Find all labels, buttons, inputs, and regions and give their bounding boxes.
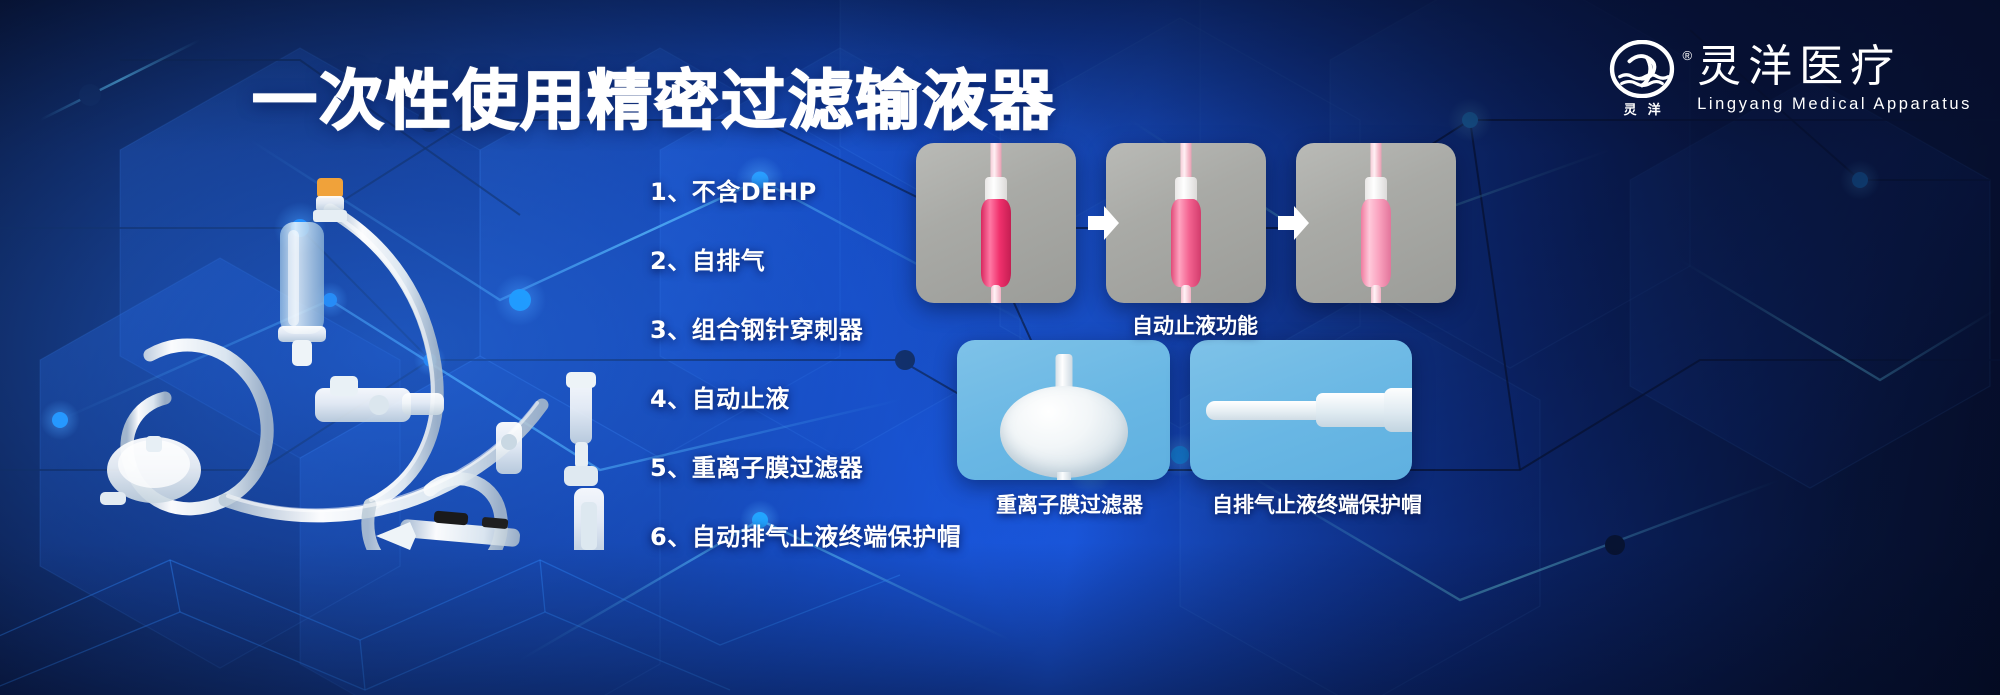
feature-item-1: 1、不含DEHP: [650, 172, 961, 207]
circle-fish-wave-emblem-icon: ® 灵洋: [1603, 40, 1681, 118]
caption-heavy-ion-membrane-filter: 重离子膜过滤器: [996, 489, 1143, 519]
right-arrow-icon: [1276, 203, 1310, 243]
product-banner: 一次性使用精密过滤输液器 ® 灵洋 灵洋医疗 Lingyang Medical …: [0, 0, 2000, 695]
gallery-top-caption: 自动止液功能: [1132, 310, 1258, 340]
photo-auto-vent-protective-cap: [1190, 340, 1412, 480]
right-arrow-icon: [1086, 203, 1120, 243]
registered-trademark-icon: ®: [1683, 48, 1693, 63]
brand-name-en: Lingyang Medical Apparatus: [1697, 95, 1972, 114]
feature-item-4: 4、自动止液: [650, 379, 961, 414]
feature-item-6: 6、自动排气止液终端保护帽: [650, 517, 961, 552]
gallery-frame-step-1: [916, 143, 1076, 303]
brand-logo: ® 灵洋 灵洋医疗 Lingyang Medical Apparatus: [1603, 40, 1972, 118]
page-title: 一次性使用精密过滤输液器: [252, 48, 1056, 142]
feature-item-5: 5、重离子膜过滤器: [650, 448, 961, 483]
emblem-label: 灵洋: [1613, 99, 1672, 118]
brand-text: 灵洋医疗 Lingyang Medical Apparatus: [1697, 44, 1972, 114]
product-photo: [30, 150, 650, 550]
photo-heavy-ion-membrane-filter: [957, 340, 1170, 480]
feature-item-2: 2、自排气: [650, 241, 961, 276]
gallery-frame-step-2: [1106, 143, 1266, 303]
feature-item-3: 3、组合钢针穿刺器: [650, 310, 961, 345]
gallery-frame-step-3: [1296, 143, 1456, 303]
caption-auto-vent-protective-cap: 自排气止液终端保护帽: [1212, 489, 1422, 519]
brand-name-cn: 灵洋医疗: [1697, 44, 1972, 90]
feature-list: 1、不含DEHP 2、自排气 3、组合钢针穿刺器 4、自动止液 5、重离子膜过滤…: [650, 172, 961, 552]
